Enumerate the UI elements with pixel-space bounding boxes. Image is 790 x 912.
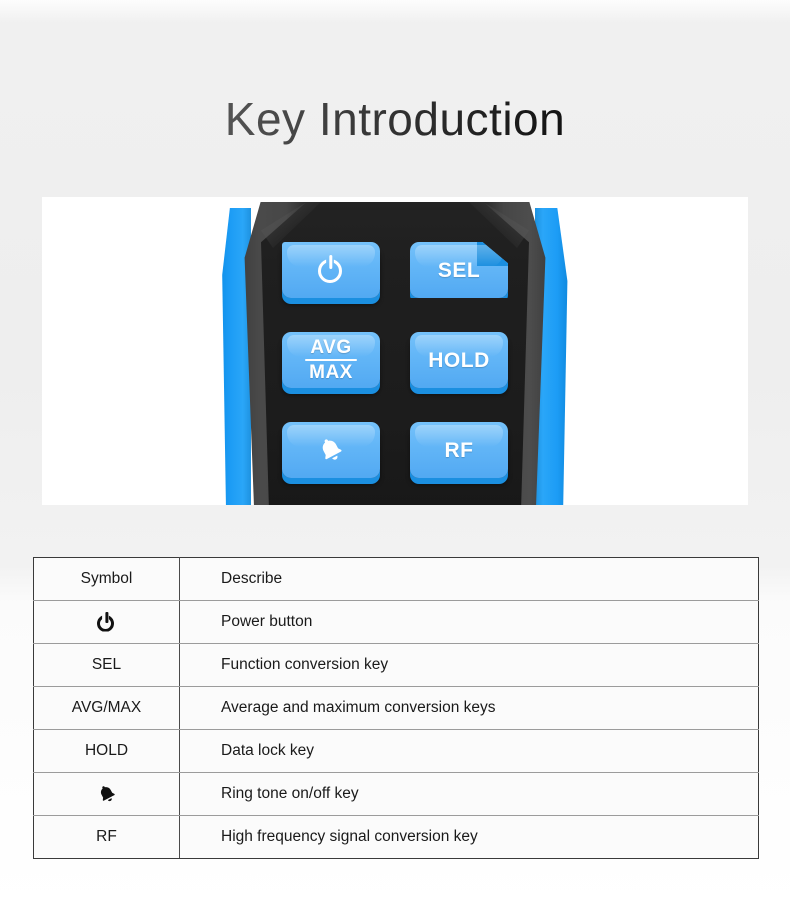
table-row: SEL Function conversion key	[34, 644, 759, 687]
table-cell-describe: Data lock key	[180, 730, 759, 773]
table-cell-describe: Ring tone on/off key	[180, 773, 759, 816]
table-cell-symbol: HOLD	[34, 730, 180, 773]
device-key-sel-label: SEL	[438, 260, 480, 281]
device-key-rf[interactable]: RF	[410, 422, 508, 478]
table-row: AVG/MAX Average and maximum conversion k…	[34, 687, 759, 730]
table-header-row: Symbol Describe	[34, 558, 759, 601]
product-photo: SEL AVG MAX HOLD	[42, 197, 748, 505]
table-cell-describe: Power button	[180, 601, 759, 644]
key-legend-table: Symbol Describe Power button SEL Functio…	[33, 557, 759, 859]
table-header-symbol: Symbol	[34, 558, 180, 601]
table-row: Ring tone on/off key	[34, 773, 759, 816]
bell-icon	[92, 779, 122, 809]
table-cell-symbol	[34, 601, 180, 644]
bell-icon	[311, 430, 352, 471]
device-key-hold-label: HOLD	[428, 350, 490, 371]
device-key-avgmax[interactable]: AVG MAX	[282, 332, 380, 388]
power-icon	[318, 257, 344, 283]
table-cell-symbol: SEL	[34, 644, 180, 687]
device-illustration: SEL AVG MAX HOLD	[219, 202, 571, 505]
table-row: RF High frequency signal conversion key	[34, 816, 759, 859]
avgmax-divider	[305, 359, 357, 361]
power-icon	[97, 613, 116, 632]
table-cell-describe: Function conversion key	[180, 644, 759, 687]
table-header-describe: Describe	[180, 558, 759, 601]
device-key-grid: SEL AVG MAX HOLD	[282, 242, 508, 488]
page-title: Key Introduction	[0, 92, 790, 146]
table-row: Power button	[34, 601, 759, 644]
device-key-avg-label: AVG	[310, 338, 351, 358]
table-cell-describe: High frequency signal conversion key	[180, 816, 759, 859]
table-cell-describe: Average and maximum conversion keys	[180, 687, 759, 730]
table-cell-symbol: AVG/MAX	[34, 687, 180, 730]
device-key-sel[interactable]: SEL	[410, 242, 508, 298]
table-cell-symbol	[34, 773, 180, 816]
table-row: HOLD Data lock key	[34, 730, 759, 773]
device-key-bell[interactable]	[282, 422, 380, 478]
device-key-max-label: MAX	[309, 362, 353, 382]
table-cell-symbol: RF	[34, 816, 180, 859]
page-root: Key Introduction SEL	[0, 0, 790, 912]
device-key-rf-label: RF	[445, 440, 474, 461]
device-key-hold[interactable]: HOLD	[410, 332, 508, 388]
device-key-power[interactable]	[282, 242, 380, 298]
